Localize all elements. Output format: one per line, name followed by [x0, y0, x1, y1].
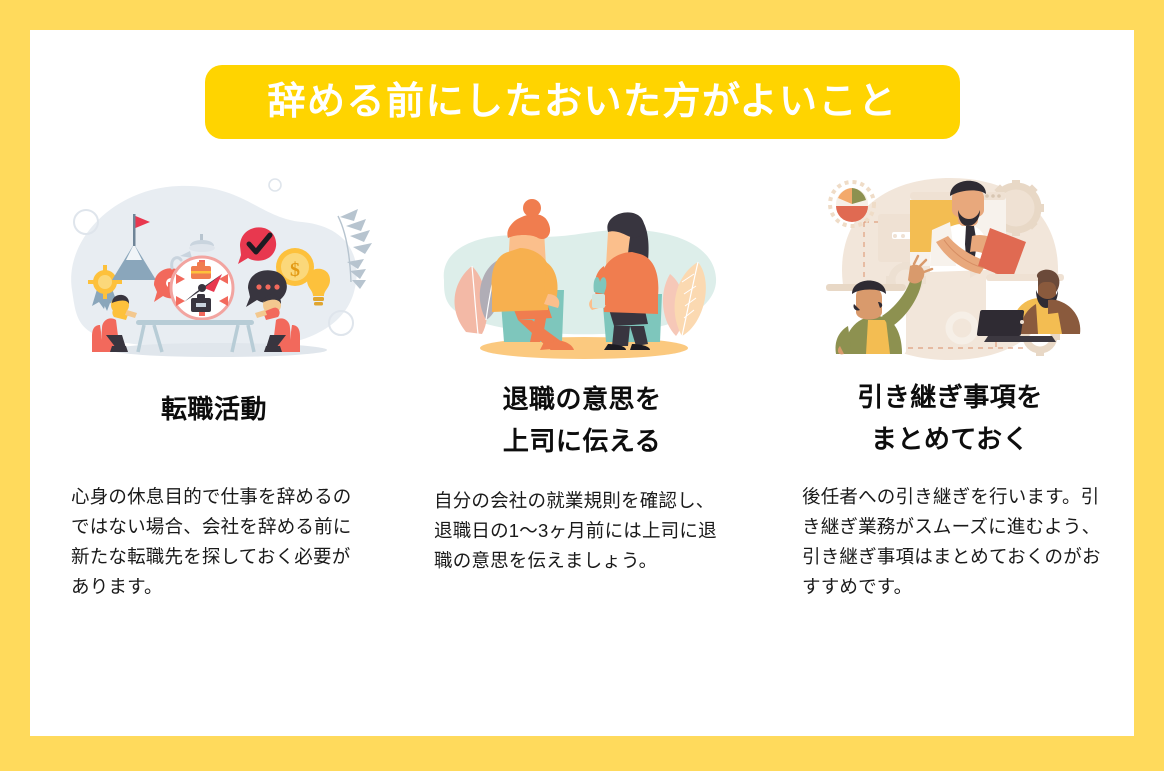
- column-heading: 引き継ぎ事項を まとめておく: [857, 376, 1043, 460]
- column-heading: 退職の意思を 上司に伝える: [502, 378, 661, 462]
- column-heading-line: 転職活動: [161, 394, 267, 424]
- team-collaboration-illustration: [790, 170, 1110, 370]
- title-badge: 辞める前にしたおいた方がよいこと: [205, 65, 960, 139]
- column-tell-supervisor: 退職の意思を 上司に伝える 自分の会社の就業規則を確認し、退職日の1〜3ヶ月前に…: [398, 170, 766, 602]
- column-heading-line: 上司に伝える: [502, 420, 661, 462]
- column-heading-line: まとめておく: [857, 418, 1043, 460]
- column-heading-line: 退職の意思を: [502, 378, 661, 420]
- column-job-hunting: $: [30, 170, 398, 602]
- svg-text:$: $: [290, 259, 300, 281]
- two-women-conversation-illustration: [422, 170, 742, 370]
- column-body: 自分の会社の就業規則を確認し、退職日の1〜3ヶ月前には上司に退職の意思を伝えまし…: [434, 486, 732, 576]
- column-body: 後任者への引き継ぎを行います。引き継ぎ業務がスムーズに進むよう、引き継ぎ事項はま…: [802, 482, 1102, 602]
- poster-page: 辞める前にしたおいた方がよいこと: [30, 30, 1134, 736]
- columns-container: $: [30, 170, 1134, 602]
- career-planning-illustration: $: [54, 170, 374, 370]
- column-heading-line: 引き継ぎ事項を: [857, 376, 1043, 418]
- column-heading: 転職活動: [161, 388, 267, 430]
- page-title: 辞める前にしたおいた方がよいこと: [267, 83, 897, 121]
- column-body: 心身の休息目的で仕事を辞めるのではない場合、会社を辞める前に新たな転職先を探して…: [71, 482, 361, 602]
- column-handover-notes: 引き継ぎ事項を まとめておく 後任者への引き継ぎを行います。引き継ぎ業務がスムー…: [766, 170, 1134, 602]
